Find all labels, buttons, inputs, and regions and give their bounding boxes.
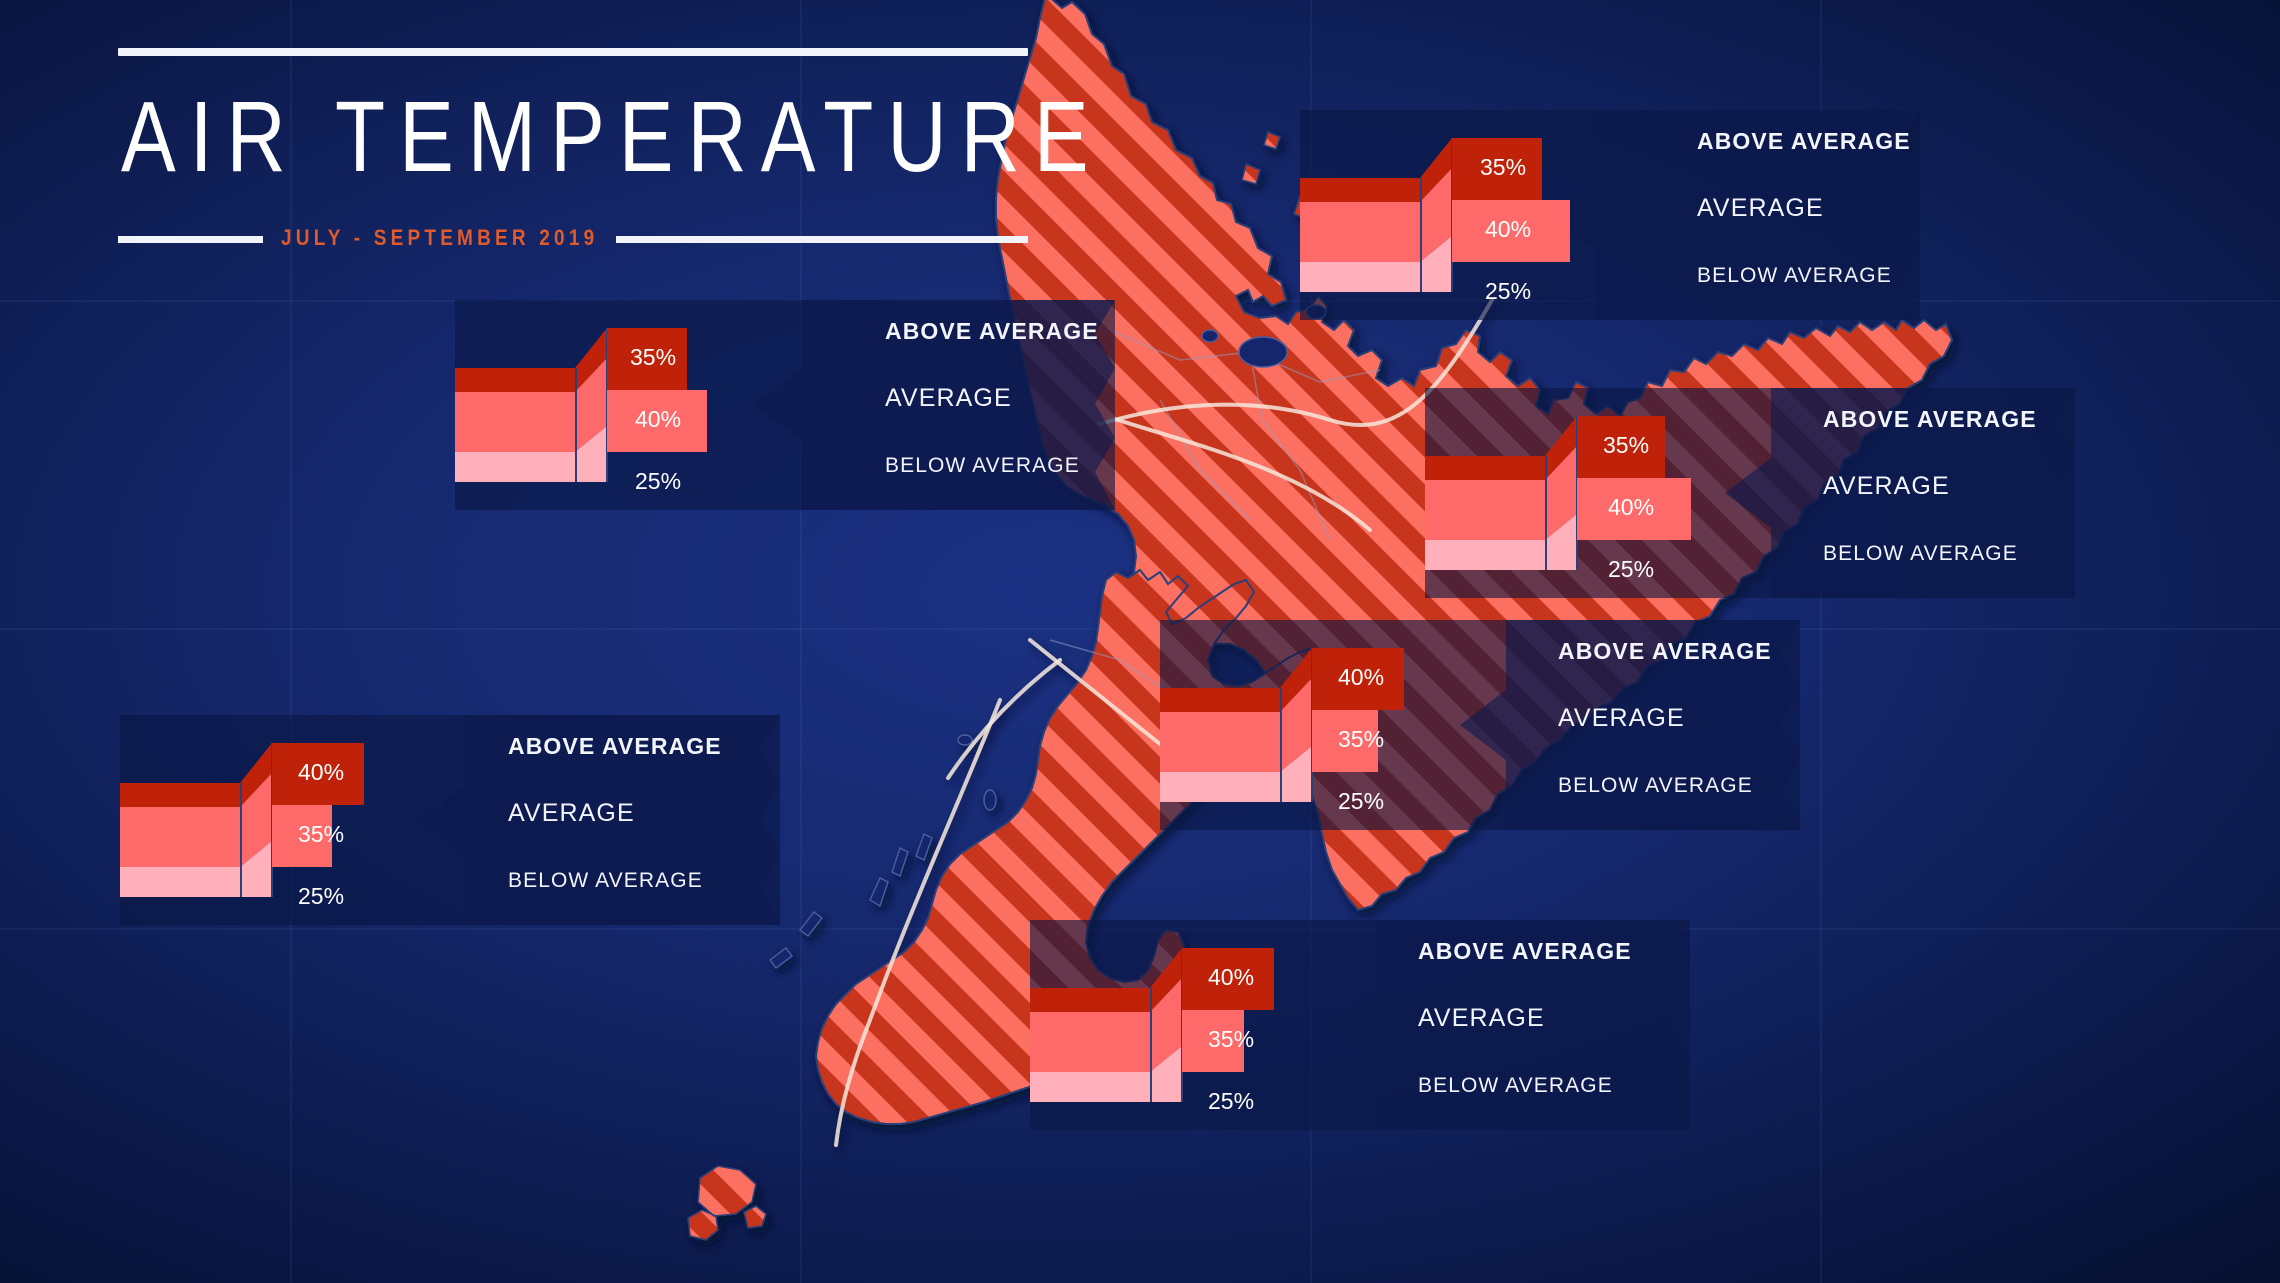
callout-west-coast[interactable]: 40% 35% 25% ABOVE AVERAGE AVERAGE BELOW … bbox=[120, 715, 780, 925]
callout-taranaki[interactable]: 35% 40% 25% ABOVE AVERAGE AVERAGE BELOW … bbox=[455, 300, 1115, 510]
title-top-rule bbox=[118, 48, 1028, 56]
subtitle-rule-left bbox=[118, 236, 263, 243]
callout-legend: ABOVE AVERAGE AVERAGE BELOW AVERAGE bbox=[120, 715, 780, 925]
callout-hawkes-bay[interactable]: 35% 40% 25% ABOVE AVERAGE AVERAGE BELOW … bbox=[1425, 388, 2075, 598]
callout-southland[interactable]: 40% 35% 25% ABOVE AVERAGE AVERAGE BELOW … bbox=[1030, 920, 1690, 1130]
callout-legend: ABOVE AVERAGE AVERAGE BELOW AVERAGE bbox=[1300, 110, 1920, 320]
subtitle-rule-right bbox=[616, 236, 1028, 243]
callout-legend: ABOVE AVERAGE AVERAGE BELOW AVERAGE bbox=[1425, 388, 2075, 598]
label-below-average: BELOW AVERAGE bbox=[885, 454, 1080, 478]
page-title: AIR TEMPERATURE bbox=[121, 88, 1028, 188]
header-block: AIR TEMPERATURE JULY - SEPTEMBER 2019 bbox=[118, 48, 1028, 250]
label-below-average: BELOW AVERAGE bbox=[1697, 264, 1892, 288]
label-above-average: ABOVE AVERAGE bbox=[1418, 938, 1632, 965]
label-average: AVERAGE bbox=[1558, 704, 1685, 733]
label-average: AVERAGE bbox=[1697, 194, 1824, 223]
label-below-average: BELOW AVERAGE bbox=[508, 869, 703, 893]
label-average: AVERAGE bbox=[885, 384, 1012, 413]
label-average: AVERAGE bbox=[1418, 1004, 1545, 1033]
page-subtitle: JULY - SEPTEMBER 2019 bbox=[281, 226, 598, 251]
label-below-average: BELOW AVERAGE bbox=[1823, 542, 2018, 566]
infographic-canvas: AIR TEMPERATURE JULY - SEPTEMBER 2019 bbox=[0, 0, 2280, 1283]
subtitle-row: JULY - SEPTEMBER 2019 bbox=[118, 228, 1028, 250]
label-below-average: BELOW AVERAGE bbox=[1558, 774, 1753, 798]
callout-legend: ABOVE AVERAGE AVERAGE BELOW AVERAGE bbox=[1160, 620, 1800, 830]
label-above-average: ABOVE AVERAGE bbox=[508, 733, 722, 760]
label-above-average: ABOVE AVERAGE bbox=[1823, 406, 2037, 433]
stewart-island bbox=[688, 1166, 766, 1240]
label-average: AVERAGE bbox=[1823, 472, 1950, 501]
label-average: AVERAGE bbox=[508, 799, 635, 828]
callout-northland[interactable]: 35% 40% 25% ABOVE AVERAGE AVERAGE BELOW … bbox=[1300, 110, 1920, 320]
label-above-average: ABOVE AVERAGE bbox=[1697, 128, 1911, 155]
callout-legend: ABOVE AVERAGE AVERAGE BELOW AVERAGE bbox=[1030, 920, 1690, 1130]
label-above-average: ABOVE AVERAGE bbox=[1558, 638, 1772, 665]
callout-legend: ABOVE AVERAGE AVERAGE BELOW AVERAGE bbox=[455, 300, 1115, 510]
callout-canterbury[interactable]: 40% 35% 25% ABOVE AVERAGE AVERAGE BELOW … bbox=[1160, 620, 1800, 830]
label-below-average: BELOW AVERAGE bbox=[1418, 1074, 1613, 1098]
label-above-average: ABOVE AVERAGE bbox=[885, 318, 1099, 345]
